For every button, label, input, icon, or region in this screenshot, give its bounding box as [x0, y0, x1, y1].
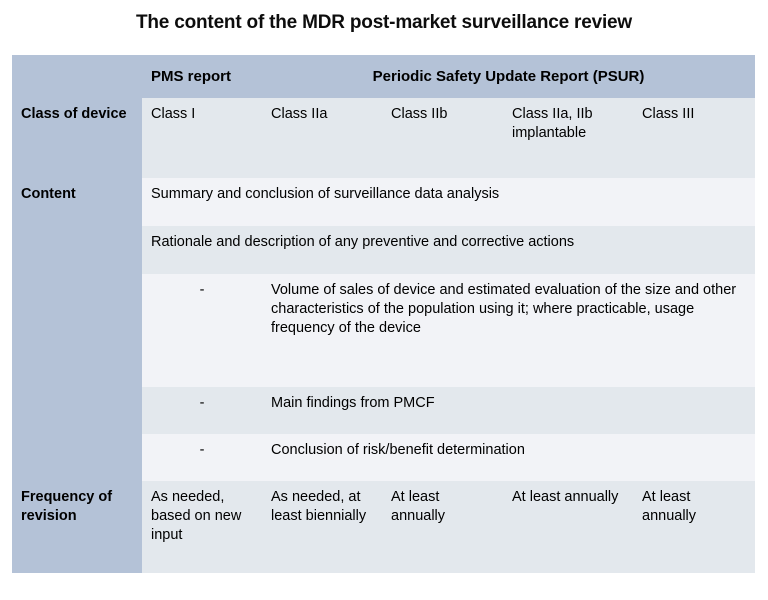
- cell-content-riskbenefit-dash: -: [142, 434, 262, 481]
- header-psur: Periodic Safety Update Report (PSUR): [262, 55, 755, 98]
- table-row: Class of device Class I Class IIa Class …: [12, 98, 755, 178]
- cell-class-i: Class I: [142, 98, 262, 178]
- table-row: Content Summary and conclusion of survei…: [12, 178, 755, 226]
- mdr-content-table: PMS report Periodic Safety Update Report…: [12, 55, 755, 573]
- row-label-content: Content: [12, 178, 142, 481]
- cell-frequency-class-i: As needed, based on new input: [142, 481, 262, 573]
- cell-class-iia: Class IIa: [262, 98, 382, 178]
- row-label-frequency-of-revision: Frequency of revision: [12, 481, 142, 573]
- cell-class-iii: Class III: [633, 98, 755, 178]
- table-row: Frequency of revision As needed, based o…: [12, 481, 755, 573]
- row-label-class-of-device: Class of device: [12, 98, 142, 178]
- header-corner-cell: [12, 55, 142, 98]
- cell-content-riskbenefit: Conclusion of risk/benefit determination: [262, 434, 755, 481]
- cell-content-summary: Summary and conclusion of surveillance d…: [142, 178, 755, 226]
- mdr-table-container: PMS report Periodic Safety Update Report…: [12, 55, 755, 573]
- slide-canvas: The content of the MDR post-market surve…: [0, 0, 768, 600]
- cell-frequency-class-iia-iib-implantable: At least annually: [503, 481, 633, 573]
- cell-frequency-class-iia: As needed, at least biennially: [262, 481, 382, 573]
- cell-content-rationale: Rationale and description of any prevent…: [142, 226, 755, 274]
- header-pms-report: PMS report: [142, 55, 262, 98]
- cell-content-pmcf-dash: -: [142, 387, 262, 434]
- table-header-row: PMS report Periodic Safety Update Report…: [12, 55, 755, 98]
- cell-content-volume-of-sales: Volume of sales of device and estimated …: [262, 274, 755, 387]
- cell-content-volume-dash: -: [142, 274, 262, 387]
- cell-content-pmcf: Main findings from PMCF: [262, 387, 755, 434]
- cell-class-iia-iib-implantable: Class IIa, IIb implantable: [503, 98, 633, 178]
- cell-class-iib: Class IIb: [382, 98, 503, 178]
- page-title: The content of the MDR post-market surve…: [0, 0, 768, 36]
- cell-frequency-class-iii: At least annually: [633, 481, 755, 573]
- cell-frequency-class-iib: At least annually: [382, 481, 503, 573]
